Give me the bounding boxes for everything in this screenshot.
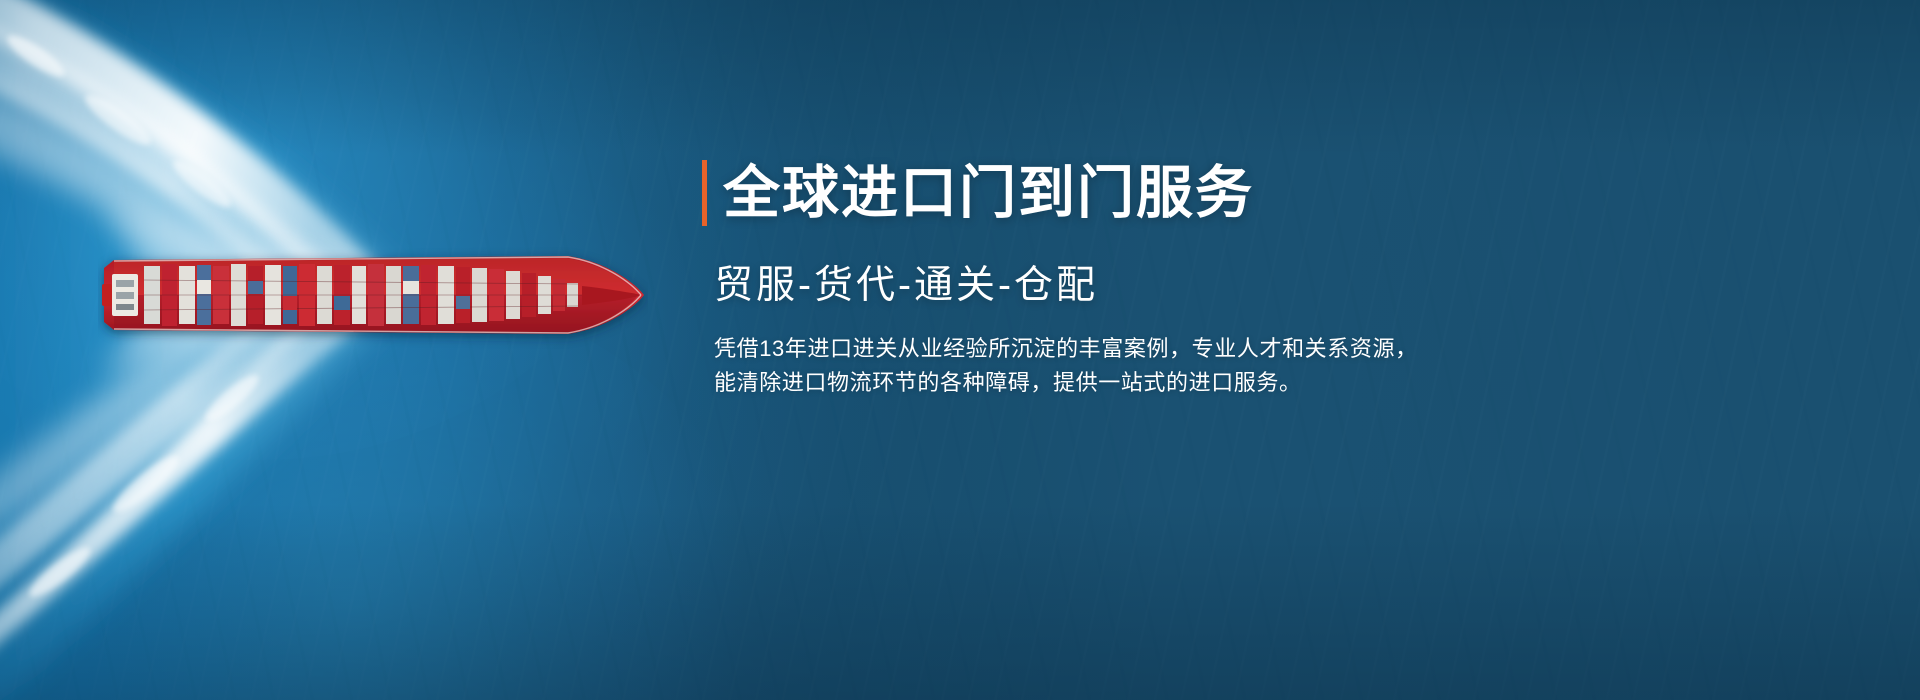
subheadline: 贸服-货代-通关-仓配 [714, 262, 1462, 310]
page-title: 全球进口门到门服务 [723, 160, 1254, 226]
description-text: 凭借13年进口进关从业经验所沉淀的丰富案例，专业人才和关系资源，能清除进口物流环… [714, 332, 1430, 400]
headline-row: 全球进口门到门服务 [702, 160, 1462, 226]
hero-copy: 全球进口门到门服务 贸服-货代-通关-仓配 凭借13年进口进关从业经验所沉淀的丰… [702, 160, 1462, 400]
container-ship [98, 240, 648, 350]
container-stacks [144, 264, 582, 326]
hero-banner: 全球进口门到门服务 贸服-货代-通关-仓配 凭借13年进口进关从业经验所沉淀的丰… [0, 0, 1920, 700]
accent-bar-icon [702, 160, 707, 226]
ship-wake-foam [0, 0, 640, 700]
